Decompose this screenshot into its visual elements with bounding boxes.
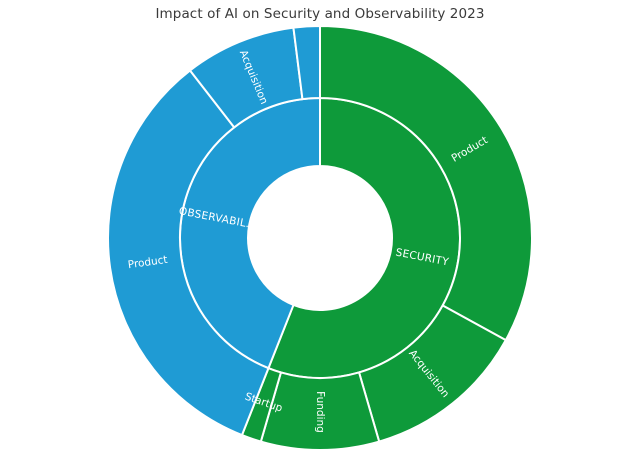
sunburst-svg: SECURITYOBSERVABIL...ProductAcquisitionF… (0, 0, 640, 460)
inner-ring-group (180, 98, 460, 378)
sunburst-chart: Impact of AI on Security and Observabili… (0, 0, 640, 460)
outer-ring-group (108, 26, 532, 450)
